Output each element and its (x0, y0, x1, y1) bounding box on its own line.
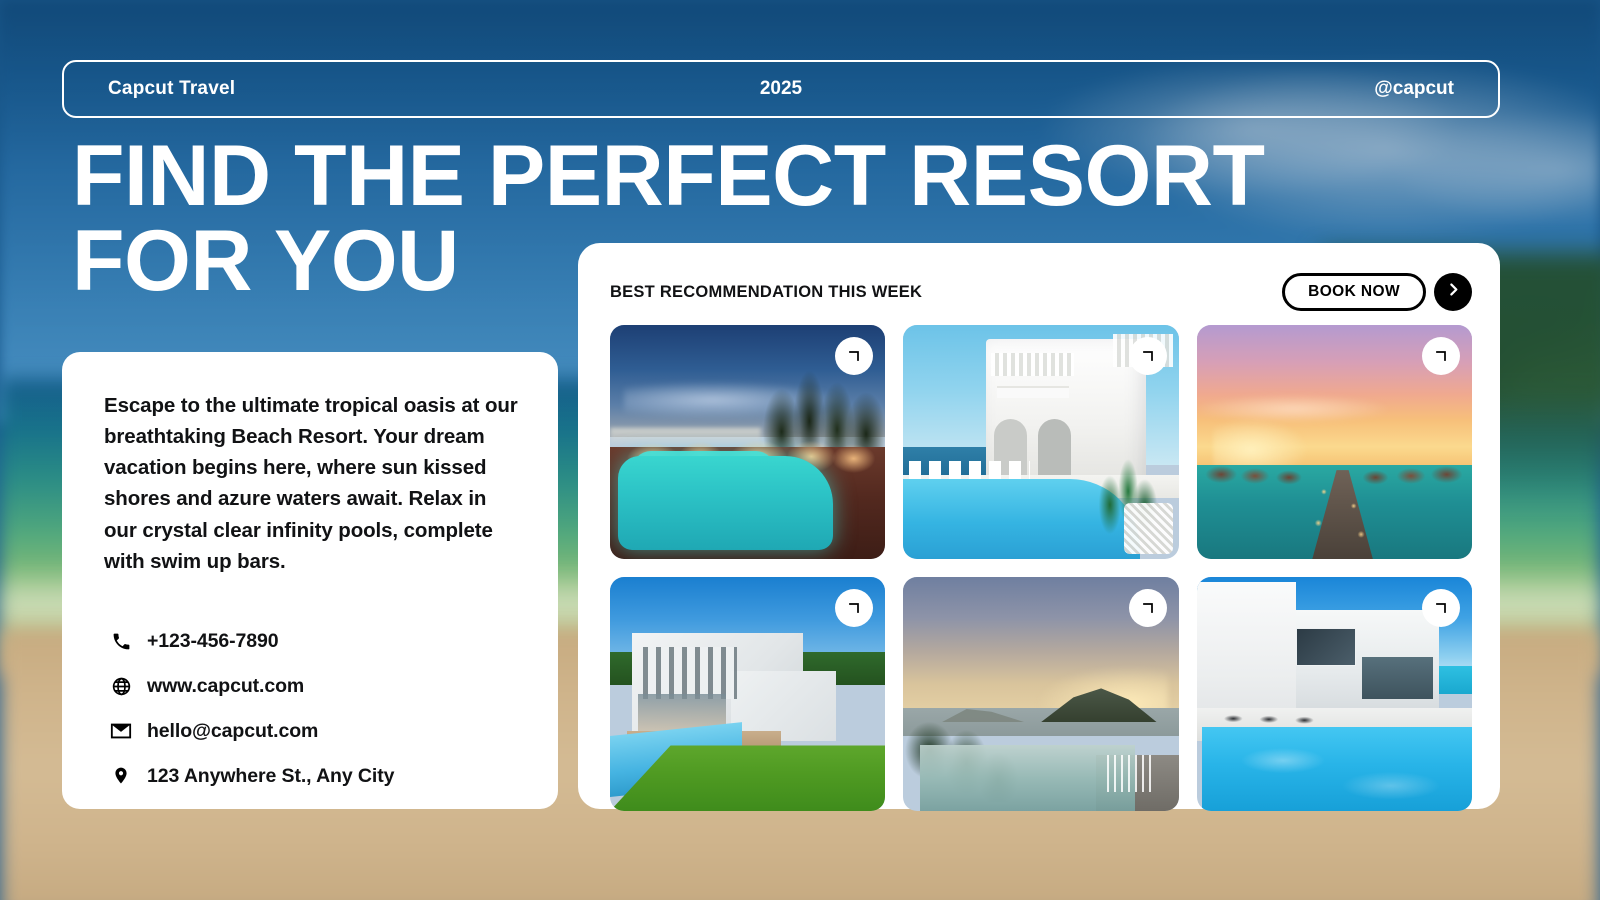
book-now-button[interactable]: Book Now (1282, 273, 1426, 311)
resort-thumbnail-grid (610, 325, 1472, 811)
contact-email-text: hello@capcut.com (147, 720, 318, 743)
envelope-icon (104, 720, 138, 742)
location-pin-icon (104, 766, 138, 786)
header-bar: Capcut Travel 2025 @capcut (62, 60, 1500, 118)
contact-phone[interactable]: +123-456-7890 (104, 619, 518, 664)
resort-thumbnail[interactable] (610, 577, 885, 811)
poster-stage: Capcut Travel 2025 @capcut Find the perf… (0, 0, 1600, 900)
resort-thumbnail[interactable] (610, 325, 885, 559)
info-card: Escape to the ultimate tropical oasis at… (62, 352, 558, 809)
contact-address-text: 123 Anywhere St., Any City (147, 765, 394, 788)
gallery-actions: Book Now (1282, 273, 1472, 311)
description-text: Escape to the ultimate tropical oasis at… (104, 390, 518, 577)
globe-icon (104, 676, 138, 697)
resort-thumbnail[interactable] (903, 325, 1178, 559)
expand-badge[interactable] (1129, 337, 1167, 375)
social-handle: @capcut (1374, 78, 1454, 100)
arrow-up-right-icon (1140, 600, 1156, 616)
expand-badge[interactable] (1422, 589, 1460, 627)
contact-address[interactable]: 123 Anywhere St., Any City (104, 754, 518, 799)
gallery-header: Best Recommendation This Week Book Now (610, 271, 1472, 313)
gallery-title: Best Recommendation This Week (610, 283, 922, 302)
resort-thumbnail[interactable] (903, 577, 1178, 811)
headline-line-1: Find the perfect resort (72, 128, 1265, 224)
arrow-up-right-icon (846, 348, 862, 364)
contact-phone-text: +123-456-7890 (147, 630, 279, 653)
arrow-up-right-icon (1140, 348, 1156, 364)
contact-email[interactable]: hello@capcut.com (104, 709, 518, 754)
gallery-panel: Best Recommendation This Week Book Now (578, 243, 1500, 809)
contact-website-text: www.capcut.com (147, 675, 304, 698)
arrow-up-right-icon (1433, 600, 1449, 616)
expand-badge[interactable] (1422, 337, 1460, 375)
contact-list: +123-456-7890 www.capcut.com (104, 619, 518, 799)
brand-name: Capcut Travel (108, 78, 235, 100)
arrow-up-right-icon (1433, 348, 1449, 364)
expand-badge[interactable] (1129, 589, 1167, 627)
resort-thumbnail[interactable] (1197, 325, 1472, 559)
header-year: 2025 (760, 78, 802, 100)
arrow-up-right-icon (846, 600, 862, 616)
next-slide-button[interactable] (1434, 273, 1472, 311)
contact-website[interactable]: www.capcut.com (104, 664, 518, 709)
chevron-right-icon (1445, 281, 1462, 303)
phone-icon (104, 631, 138, 652)
resort-thumbnail[interactable] (1197, 577, 1472, 811)
